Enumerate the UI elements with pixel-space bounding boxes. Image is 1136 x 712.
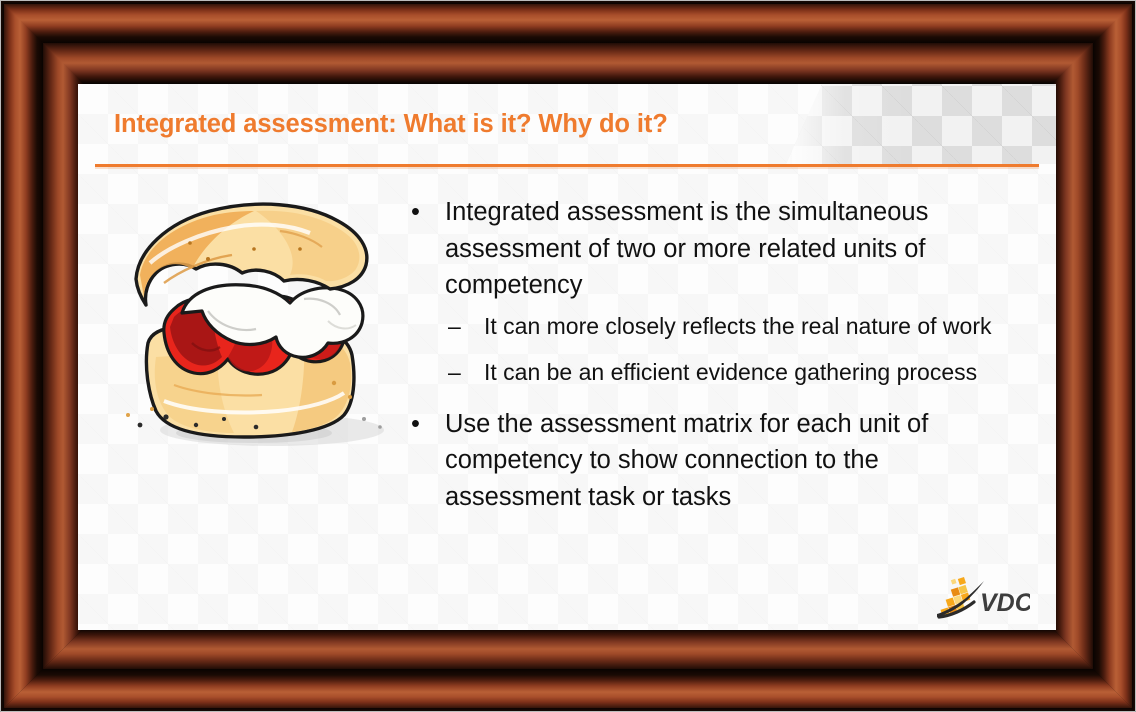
vdc-wordmark: VDC bbox=[980, 589, 1030, 617]
list-item-text: Use the assessment matrix for each unit … bbox=[445, 410, 928, 511]
list-item: – It can be an efficient evidence gather… bbox=[403, 354, 1013, 391]
frame-left-stile bbox=[0, 0, 84, 712]
scone-with-jam-and-cream-illustration bbox=[104, 187, 416, 455]
list-item: – It can more closely reflects the real … bbox=[403, 308, 1013, 345]
bullet-marker-icon: • bbox=[411, 194, 420, 231]
frame-right-stile bbox=[1052, 0, 1136, 712]
sub-list: – It can more closely reflects the real … bbox=[403, 308, 1013, 391]
spacer bbox=[403, 391, 1013, 406]
title-divider-shadow bbox=[95, 167, 1039, 169]
list-item-text: It can be an efficient evidence gatherin… bbox=[484, 359, 977, 385]
frame-bottom-rail bbox=[0, 628, 1136, 712]
vdc-logo: VDC bbox=[934, 574, 1030, 620]
presentation-slide: Integrated assessment: What is it? Why d… bbox=[78, 84, 1056, 630]
bullet-marker-icon: • bbox=[411, 406, 420, 443]
dash-marker-icon: – bbox=[448, 308, 461, 345]
spacer bbox=[403, 345, 1013, 354]
checkered-mosaic-banner bbox=[786, 84, 1056, 164]
page-title: Integrated assessment: What is it? Why d… bbox=[114, 110, 668, 139]
slide-body-content: • Integrated assessment is the simultane… bbox=[403, 194, 1013, 515]
dash-marker-icon: – bbox=[448, 354, 461, 391]
list-item-text: Integrated assessment is the simultaneou… bbox=[445, 198, 928, 299]
frame-top-rail bbox=[0, 0, 1136, 84]
list-item: • Use the assessment matrix for each uni… bbox=[403, 406, 1013, 516]
list-item: • Integrated assessment is the simultane… bbox=[403, 194, 1013, 304]
list-item-text: It can more closely reflects the real na… bbox=[484, 313, 992, 339]
